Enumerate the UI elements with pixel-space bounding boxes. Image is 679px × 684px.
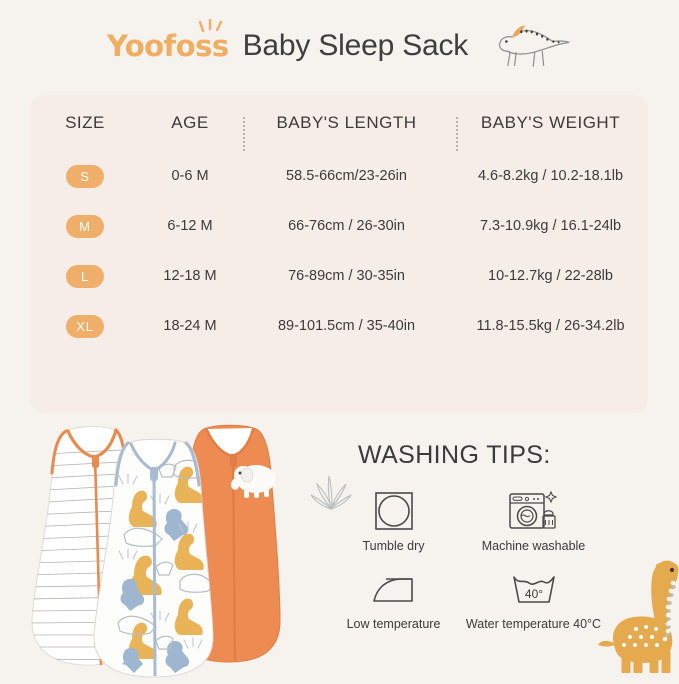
water-temperature-icon: 40° (508, 565, 560, 613)
size-chart-card: SIZE AGE BABY'S LENGTH BABY'S WEIGHT S 0… (30, 95, 648, 413)
water-temp-value: 40° (524, 587, 542, 601)
tip-label-water-temperature: Water temperature 40°C (466, 617, 601, 631)
brand-logo: Yoofoss (107, 32, 229, 61)
table-header: SIZE AGE BABY'S LENGTH BABY'S WEIGHT (30, 95, 648, 151)
washing-tips-grid: Tumble dry (326, 487, 606, 643)
cell-length: 89-101.5cm / 35-40in (240, 301, 453, 351)
tip-label-machine-washable: Machine washable (482, 539, 586, 553)
cell-weight: 4.6-8.2kg / 10.2-18.1lb (453, 151, 648, 201)
column-header-age: AGE (140, 95, 240, 151)
cell-age: 18-24 M (140, 301, 240, 351)
sleep-sack-trio-illustration (28, 415, 318, 679)
tip-label-tumble-dry: Tumble dry (362, 539, 424, 553)
cell-age: 6-12 M (140, 201, 240, 251)
table-header-row: SIZE AGE BABY'S LENGTH BABY'S WEIGHT (30, 95, 648, 151)
machine-washable-icon (508, 487, 560, 535)
cell-age: 12-18 M (140, 251, 240, 301)
size-chart-table: SIZE AGE BABY'S LENGTH BABY'S WEIGHT S 0… (30, 95, 648, 351)
cell-size: S (30, 151, 140, 201)
table-row: XL 18-24 M 89-101.5cm / 35-40in 11.8-15.… (30, 301, 648, 351)
table-body: S 0-6 M 58.5-66cm/23-26in 4.6-8.2kg / 10… (30, 151, 648, 351)
cell-weight: 7.3-10.9kg / 16.1-24lb (453, 201, 648, 251)
logo-sun-rays-icon (199, 19, 225, 33)
size-badge-l: L (66, 265, 104, 288)
column-header-size: SIZE (30, 95, 140, 151)
brand-name: Yoofoss (107, 29, 229, 63)
cell-weight: 10-12.7kg / 22-28lb (453, 251, 648, 301)
cell-size: XL (30, 301, 140, 351)
cell-size: L (30, 251, 140, 301)
table-row: L 12-18 M 76-89cm / 30-35in 10-12.7kg / … (30, 251, 648, 301)
product-images (28, 415, 318, 679)
low-temperature-iron-icon (370, 565, 418, 613)
cell-size: M (30, 201, 140, 251)
tip-machine-washable: Machine washable (461, 487, 606, 565)
column-header-length: BABY'S LENGTH (240, 95, 453, 151)
size-badge-m: M (66, 215, 104, 238)
cell-length: 66-76cm / 26-30in (240, 201, 453, 251)
size-badge-s: S (66, 165, 104, 188)
washing-tips-title: WASHING TIPS: (358, 441, 551, 470)
parasaurolophus-outline-icon (490, 19, 572, 73)
brachiosaurus-icon (596, 553, 679, 673)
tip-low-temperature: Low temperature (326, 565, 461, 643)
washing-tips-section: WASHING TIPS: Tumble dry (320, 425, 679, 679)
size-badge-xl: XL (66, 315, 104, 338)
tumble-dry-icon (373, 487, 415, 535)
cell-length: 58.5-66cm/23-26in (240, 151, 453, 201)
cell-age: 0-6 M (140, 151, 240, 201)
cell-length: 76-89cm / 30-35in (240, 251, 453, 301)
cell-weight: 11.8-15.5kg / 26-34.2lb (453, 301, 648, 351)
tip-water-temperature: 40° Water temperature 40°C (461, 565, 606, 643)
tip-label-low-temperature: Low temperature (347, 617, 441, 631)
table-row: M 6-12 M 66-76cm / 26-30in 7.3-10.9kg / … (30, 201, 648, 251)
tip-tumble-dry: Tumble dry (326, 487, 461, 565)
column-header-weight: BABY'S WEIGHT (453, 95, 648, 151)
page-title: Baby Sleep Sack (243, 29, 468, 63)
table-row: S 0-6 M 58.5-66cm/23-26in 4.6-8.2kg / 10… (30, 151, 648, 201)
page-header: Yoofoss Baby Sleep Sack (0, 0, 679, 92)
